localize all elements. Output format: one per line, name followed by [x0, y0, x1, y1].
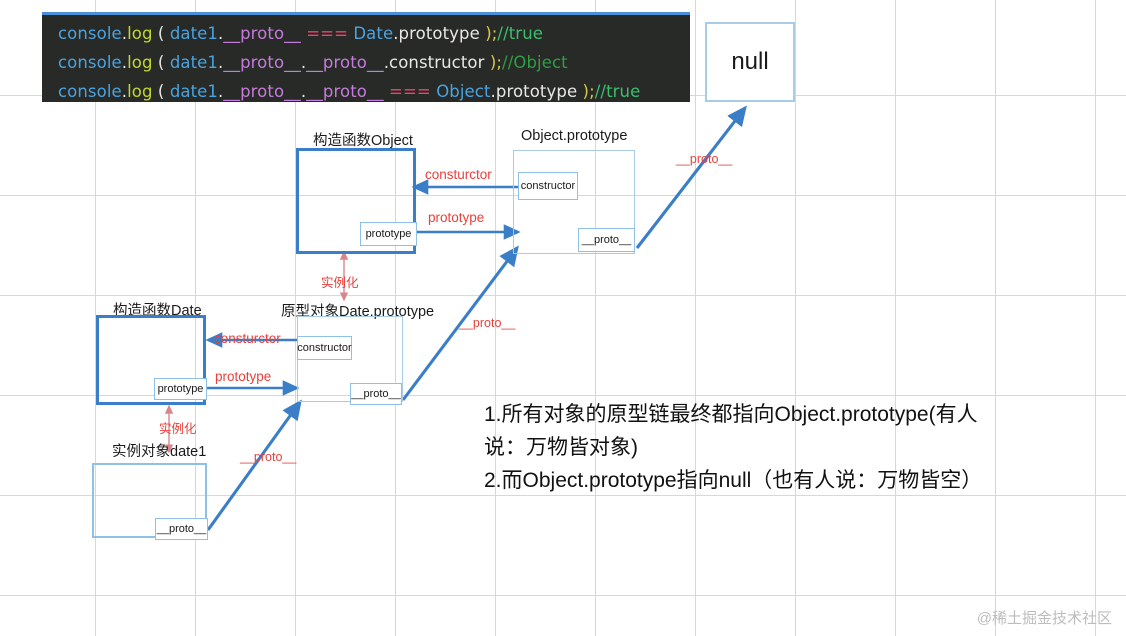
edge-label-proto-to-null: __proto__	[676, 152, 732, 166]
code-line-3: console.log ( date1.__proto__.__proto__ …	[58, 77, 690, 106]
edge-label-instantiate-date: 实例化	[159, 418, 197, 437]
object-prototype-proto-slot: __proto__	[578, 228, 635, 252]
watermark: @稀土掘金技术社区	[977, 607, 1112, 628]
date1-proto-slot: __proto__	[155, 518, 208, 540]
object-prototype-caption: Object.prototype	[521, 128, 627, 144]
object-constructor-prototype-slot: prototype	[360, 222, 417, 246]
edge-label-object-constructor: consturctor	[425, 167, 492, 182]
object-constructor-prototype-label: prototype	[366, 228, 412, 240]
object-constructor-caption: 构造函数Object	[313, 129, 413, 150]
edge-label-instantiate-object: 实例化	[321, 272, 359, 291]
edge-label-date-constructor: consturctor	[214, 331, 281, 346]
object-prototype-proto-label: __proto__	[582, 234, 632, 246]
code-line-1: console.log ( date1.__proto__ === Date.p…	[58, 19, 690, 48]
arrow-date1-to-dateproto	[208, 402, 300, 530]
date-prototype-constructor-label: constructor	[297, 342, 351, 354]
object-prototype-constructor-label: constructor	[521, 180, 575, 192]
date-prototype-proto-slot: __proto__	[350, 383, 402, 405]
null-label: null	[731, 48, 768, 76]
notes-block: 1.所有对象的原型链最终都指向Object.prototype(有人 说：万物皆…	[484, 398, 1084, 497]
edge-label-proto-date1-to-dateproto: __proto__	[240, 450, 296, 464]
notes-line-2: 说：万物皆对象)	[484, 431, 1084, 464]
date1-caption: 实例对象date1	[112, 440, 206, 461]
date-constructor-prototype-slot: prototype	[154, 378, 207, 400]
edge-label-proto-date-to-object: __proto__	[459, 316, 515, 330]
date-constructor-prototype-label: prototype	[158, 383, 204, 395]
edge-label-date-prototype: prototype	[215, 369, 271, 384]
object-prototype-constructor-slot: constructor	[518, 172, 578, 200]
notes-line-1: 1.所有对象的原型链最终都指向Object.prototype(有人	[484, 398, 1084, 431]
diagram-canvas: console.log ( date1.__proto__ === Date.p…	[0, 0, 1126, 636]
notes-line-3: 2.而Object.prototype指向null（也有人说：万物皆空）	[484, 464, 1084, 497]
null-box: null	[705, 22, 795, 102]
date1-proto-label: __proto__	[157, 523, 207, 535]
code-block: console.log ( date1.__proto__ === Date.p…	[42, 12, 690, 102]
date-prototype-proto-label: __proto__	[351, 388, 401, 400]
date-prototype-constructor-slot: constructor	[297, 336, 352, 360]
edge-label-object-prototype: prototype	[428, 210, 484, 225]
code-line-2: console.log ( date1.__proto__.__proto__.…	[58, 48, 690, 77]
arrow-proto-to-null	[637, 108, 745, 248]
